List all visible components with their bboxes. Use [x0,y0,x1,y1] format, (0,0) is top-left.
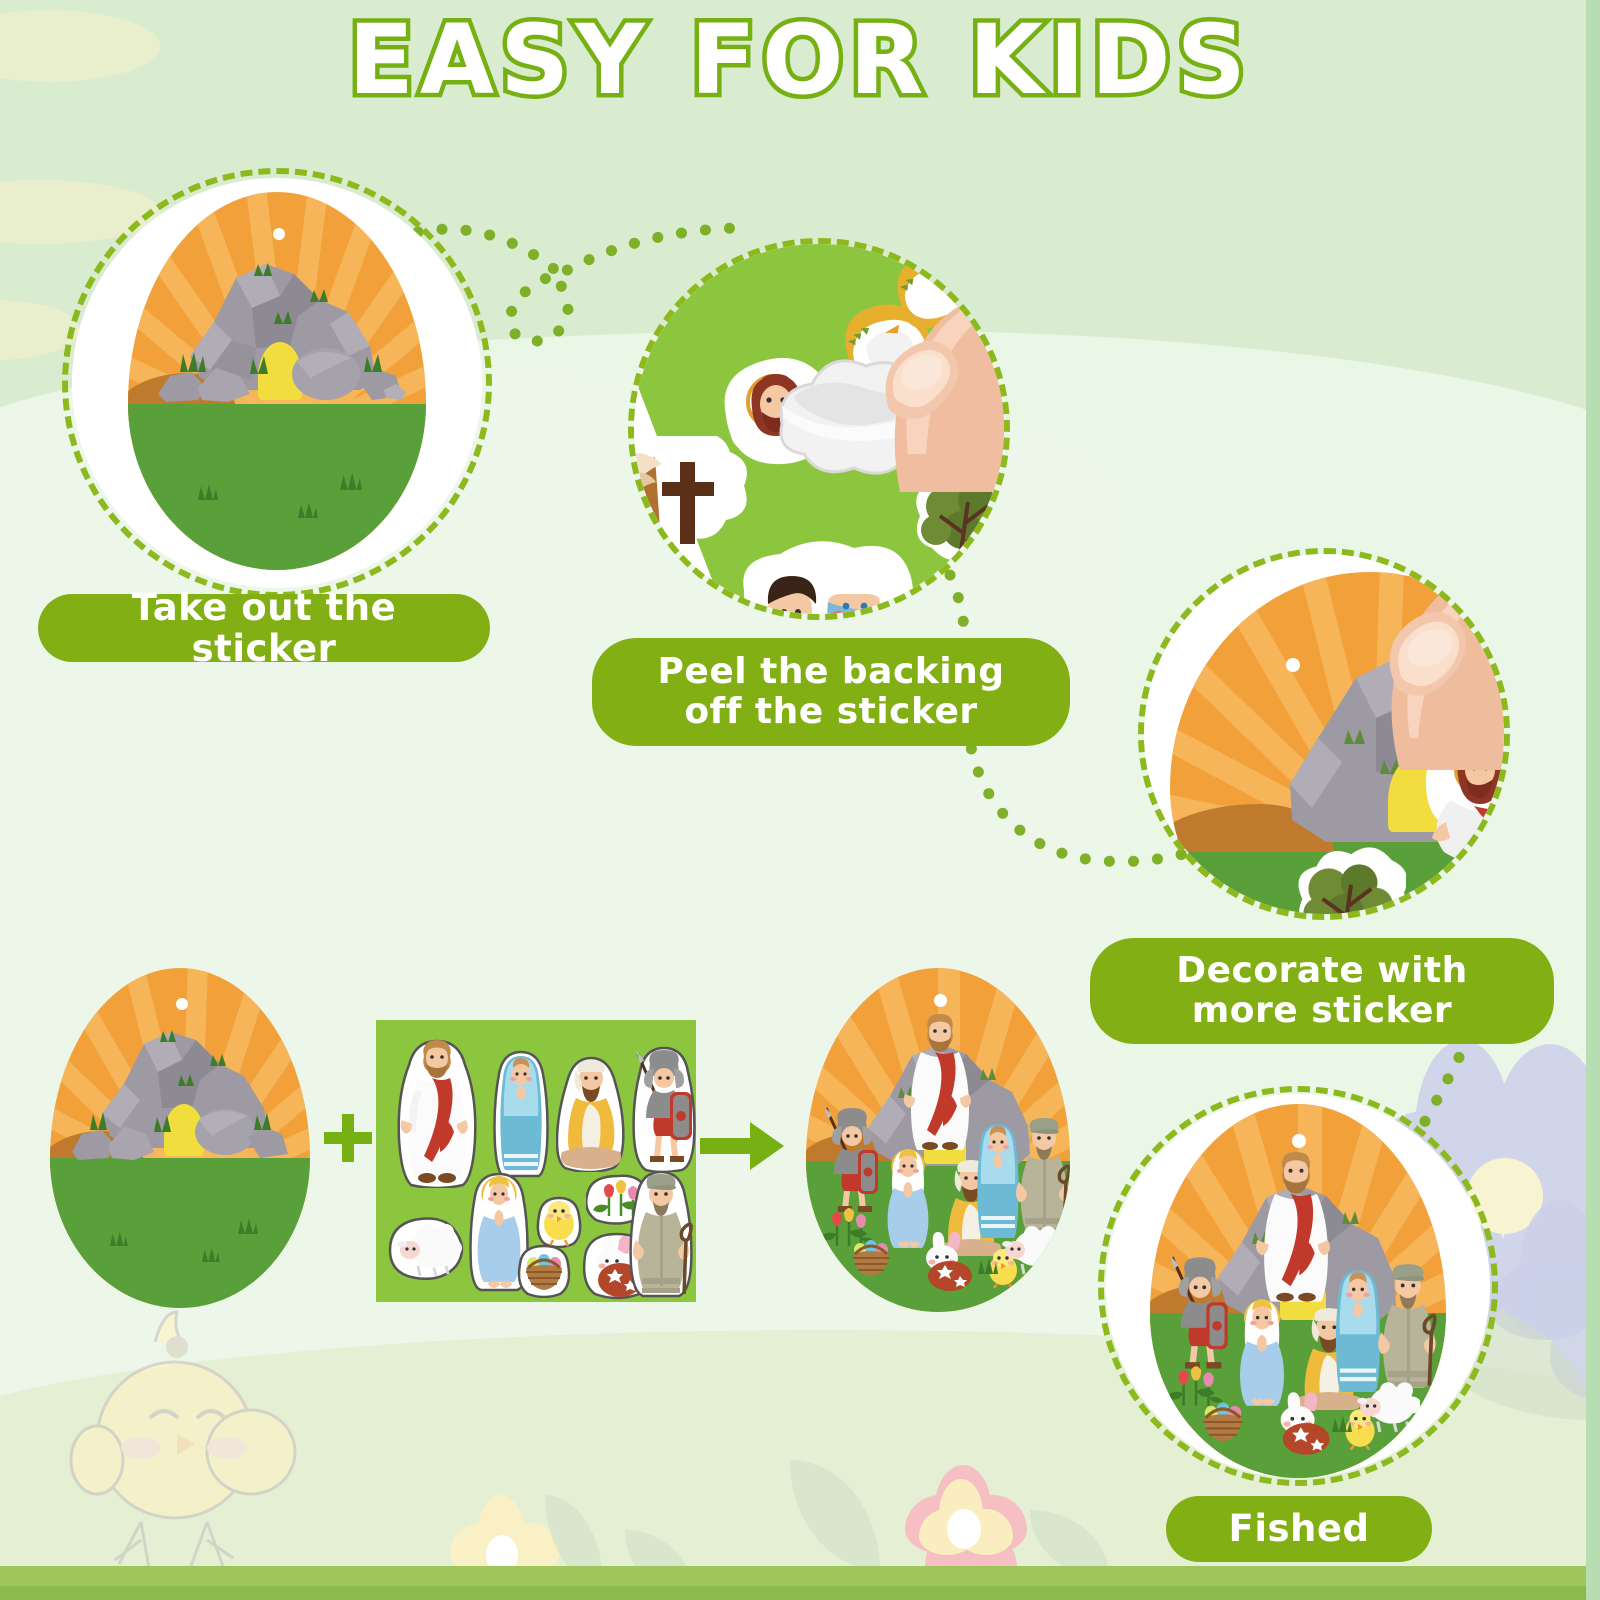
egg-grass-tuft-1 [196,482,218,500]
finished-bunny [1270,1390,1338,1456]
egg-grass-tuft-3 [338,470,362,490]
finished-shepherd [1378,1262,1438,1390]
sticker-chick [536,1196,582,1248]
egg-jesus [902,1014,978,1154]
step-4-label-text: Fished [1229,1508,1370,1549]
egg-shepherd [1016,1116,1070,1236]
egg-soldier [824,1106,882,1216]
people-sticker [734,540,924,614]
hand-peeling [848,244,1004,494]
finished-soldier [1170,1254,1232,1374]
finished-jesus [1254,1152,1338,1306]
egg-grass-tuft-2 [296,500,318,518]
step-1-label: Take out the sticker [38,594,490,662]
equation-arrow-icon [700,1120,786,1172]
infographic-root: EASY FOR KIDS [0,0,1600,1600]
page-title: EASY FOR KIDS [0,4,1600,116]
sticker-shepherd [628,1170,694,1298]
egg-basket [844,1234,898,1284]
sticker-sheep [388,1216,464,1280]
sticker-egg-basket [516,1244,572,1298]
step-2-label-line-1: Peel the backing [658,652,1005,692]
step-3-photo [1144,554,1504,914]
finished-sheep [1350,1376,1420,1434]
egg-foreground-rocks [158,332,408,402]
step-3-label-line-2: more sticker [1192,991,1452,1031]
right-edge-strip [1586,0,1600,1600]
egg-grass [128,404,426,570]
step-4-finished-egg [1150,1104,1446,1478]
step-1-egg-scene [128,192,426,570]
equation-completed-egg [806,968,1070,1312]
placed-tree-sticker [1284,844,1406,914]
egg-sheep [996,1220,1062,1276]
sticker-roman-soldier [632,1046,696,1172]
egg-bunny [916,1230,980,1292]
step-3-label-line-1: Decorate with [1176,951,1468,991]
sticker-kneeling-man [556,1056,626,1172]
step-2-photo [634,244,1004,614]
hand-placing [1340,554,1504,772]
sticker-mary [492,1050,550,1178]
equation-plus-icon [318,1108,378,1168]
step-2-label: Peel the backing off the sticker [592,638,1070,746]
equation-blank-egg [50,968,310,1308]
sticker-jesus [394,1038,480,1188]
egg-hang-hole [273,228,285,240]
step-2-label-line-2: off the sticker [684,692,977,732]
decor-chick-watermark [55,1300,355,1580]
sticker-sheet [376,1020,696,1302]
bottom-strip-dark [0,1586,1600,1600]
step-3-label: Decorate with more sticker [1090,938,1554,1044]
step-1-label-text: Take out the sticker [64,587,464,670]
finished-basket [1194,1396,1252,1450]
step-4-label: Fished [1166,1496,1432,1562]
